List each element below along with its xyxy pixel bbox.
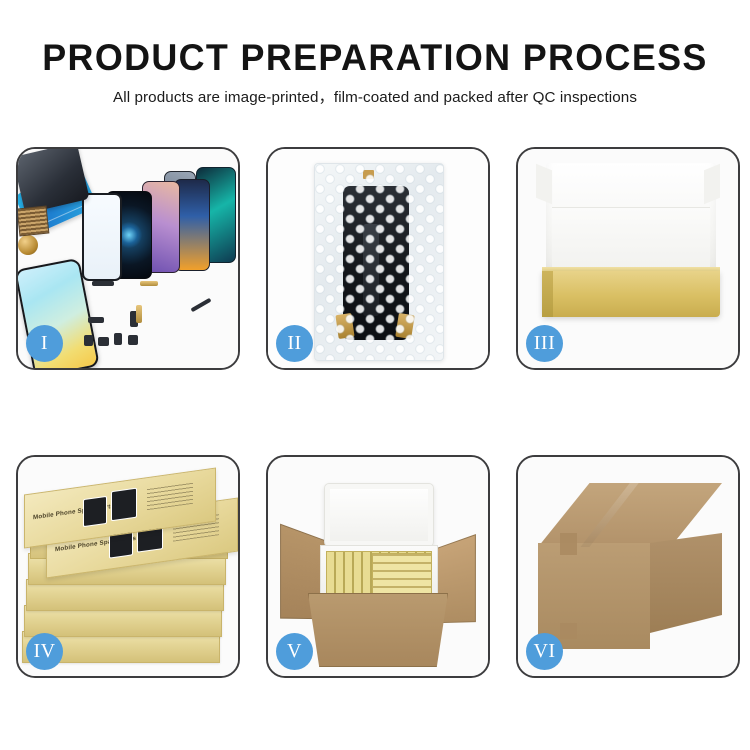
bubble-texture [315, 164, 443, 360]
process-steps-grid: I II III [16, 147, 740, 678]
box-tray-end [542, 271, 553, 317]
step-badge-4: IV [26, 633, 63, 670]
step-panel-2[interactable]: II [266, 147, 490, 370]
speaker-module [18, 235, 38, 255]
step-badge-1: I [26, 325, 63, 362]
step-badge-6: VI [526, 633, 563, 670]
carton-tape-lower [560, 623, 577, 639]
yellow-boxes-row-b [372, 553, 432, 595]
carton-front-face [538, 543, 650, 649]
part-small-e [88, 317, 104, 323]
part-gold-strip [136, 305, 142, 323]
step-panel-3[interactable]: III [516, 147, 740, 370]
foam-box-lid [324, 483, 434, 547]
lid-flap-left [536, 164, 552, 204]
carton-side-face [650, 533, 722, 633]
carton-body [308, 593, 448, 667]
bubble-wrap-bag [314, 163, 444, 361]
step-panel-1[interactable]: I [16, 147, 240, 370]
page-subtitle: All products are image-printed，film-coat… [0, 88, 750, 108]
part-small-a [84, 335, 93, 346]
part-flex-cable [92, 281, 114, 286]
page-title: PRODUCT PREPARATION PROCESS [11, 36, 739, 80]
box-window-1a [83, 496, 107, 527]
step-panel-4[interactable]: Mobile Phone Spare Parts Mobile Phone Sp… [16, 455, 240, 678]
yellow-box-tray [542, 271, 720, 317]
tweezers-tool [190, 298, 211, 312]
part-gold-connector [140, 281, 158, 286]
step-panel-6[interactable]: VI [516, 455, 740, 678]
step-badge-3: III [526, 325, 563, 362]
part-small-d [128, 335, 138, 345]
page-header: PRODUCT PREPARATION PROCESS All products… [0, 0, 750, 108]
part-small-b [98, 337, 109, 346]
step-badge-5: V [276, 633, 313, 670]
lid-flap-right [704, 164, 720, 204]
logic-board-chip [18, 206, 49, 237]
step-panel-5[interactable]: V [266, 455, 490, 678]
box-spec-lines-1 [147, 482, 193, 510]
box-window-1b [111, 488, 137, 522]
step-badge-2: II [276, 325, 313, 362]
tempered-glass-screen [82, 193, 122, 281]
carton-tape-upper [560, 533, 577, 555]
part-small-c [114, 333, 122, 345]
